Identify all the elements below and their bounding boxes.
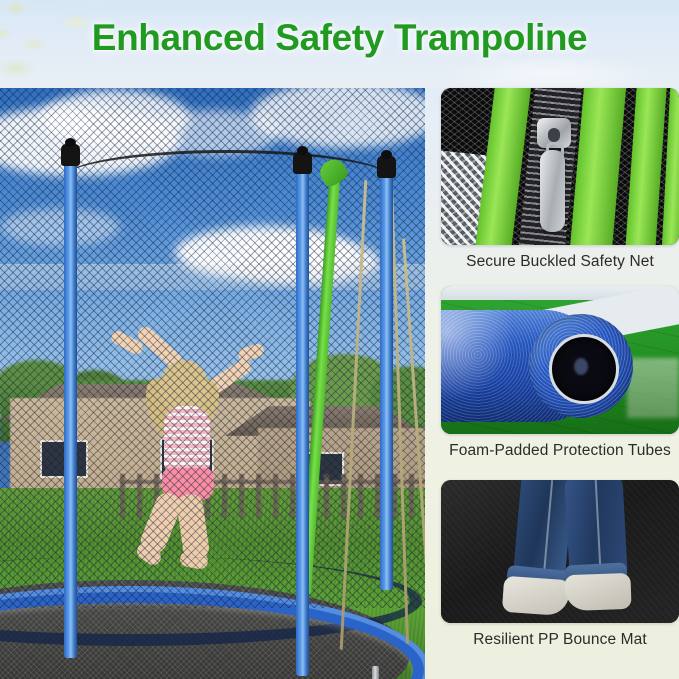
feature-card-bounce-mat: Resilient PP Bounce Mat	[441, 480, 679, 649]
header-banner: Enhanced Safety Trampoline	[0, 0, 679, 88]
pole-cap-knob	[65, 138, 76, 147]
foam-tube-photo	[441, 286, 679, 434]
bounce-mat-photo	[441, 480, 679, 623]
foam-tube-inner-pole	[574, 358, 588, 375]
feature-caption-safety-net: Secure Buckled Safety Net	[441, 253, 679, 271]
trampoline-leg	[372, 666, 379, 679]
girl-striped-top	[164, 406, 210, 474]
cloud	[0, 208, 120, 246]
enclosure-pole	[64, 158, 77, 658]
safety-net-photo	[441, 88, 679, 245]
pole-cap	[61, 144, 80, 166]
pole-cap	[377, 156, 396, 178]
pole-cap-knob	[297, 146, 308, 155]
jumping-girl	[118, 350, 268, 580]
zipper-slider-hole	[548, 128, 560, 142]
feature-caption-bounce-mat: Resilient PP Bounce Mat	[441, 631, 679, 649]
feature-caption-protection-tubes: Foam-Padded Protection Tubes	[441, 442, 679, 460]
feature-card-safety-net: Secure Buckled Safety Net	[441, 88, 679, 271]
feature-card-protection-tubes: Foam-Padded Protection Tubes	[441, 286, 679, 460]
girl-hair	[160, 360, 208, 412]
page-title: Enhanced Safety Trampoline	[0, 17, 679, 59]
feature-card-list: Secure Buckled Safety Net Foam-Padded Pr…	[441, 88, 679, 679]
white-sock-right	[564, 573, 631, 611]
pole-cap-knob	[381, 150, 392, 159]
background-blur	[627, 358, 679, 418]
enclosure-pole	[380, 170, 393, 590]
product-feature-graphic: Enhanced Safety Trampoline	[0, 0, 679, 679]
trampoline-hero-photo	[0, 88, 425, 679]
zipper-pull-tab	[540, 150, 565, 232]
enclosure-pole	[296, 166, 309, 676]
pole-cap	[293, 152, 312, 174]
white-sock-left	[502, 576, 570, 617]
